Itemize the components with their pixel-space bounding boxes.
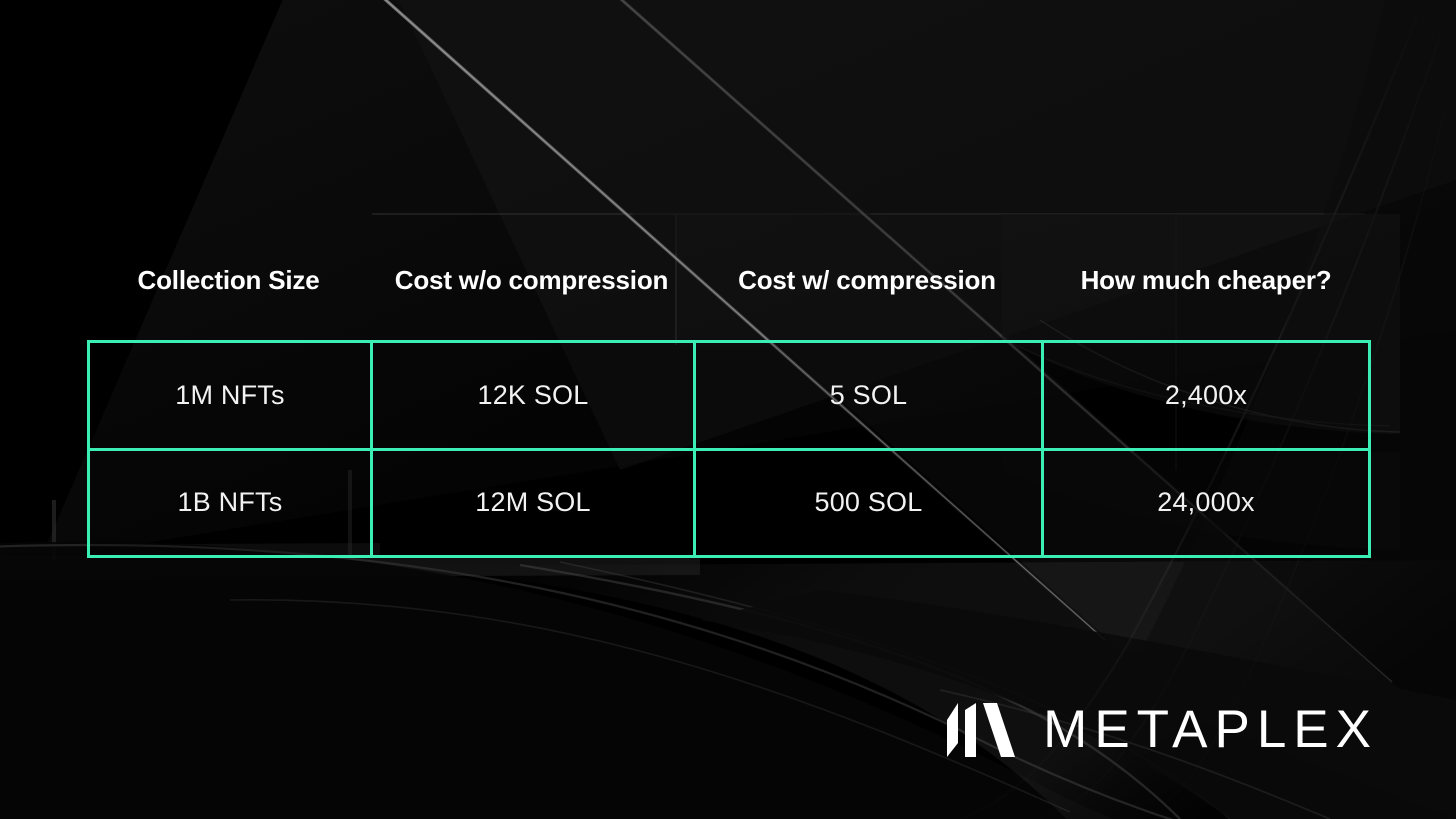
table-row: 1B NFTs 12M SOL 500 SOL 24,000x xyxy=(90,448,1368,556)
cell-how-much-cheaper: 2,400x xyxy=(1041,343,1368,448)
table-row: 1M NFTs 12K SOL 5 SOL 2,400x xyxy=(90,343,1368,448)
cell-how-much-cheaper: 24,000x xyxy=(1041,451,1368,556)
cell-cost-with-compression: 5 SOL xyxy=(693,343,1041,448)
cell-cost-without-compression: 12K SOL xyxy=(370,343,693,448)
column-header-cost-with-compression: Cost w/ compression xyxy=(693,222,1041,340)
cell-cost-with-compression: 500 SOL xyxy=(693,451,1041,556)
metaplex-m-mark-icon xyxy=(945,701,1017,757)
brand-logo: METAPLEX xyxy=(945,701,1378,757)
comparison-table: 1M NFTs 12K SOL 5 SOL 2,400x 1B NFTs 12M… xyxy=(87,340,1371,558)
column-header-collection-size: Collection Size xyxy=(87,222,370,340)
brand-wordmark: METAPLEX xyxy=(1043,703,1378,756)
table-header-row: Collection Size Cost w/o compression Cos… xyxy=(87,222,1371,340)
cell-cost-without-compression: 12M SOL xyxy=(370,451,693,556)
cell-collection-size: 1M NFTs xyxy=(90,343,370,448)
slide-content: Collection Size Cost w/o compression Cos… xyxy=(0,0,1456,819)
cell-collection-size: 1B NFTs xyxy=(90,451,370,556)
column-header-cost-without-compression: Cost w/o compression xyxy=(370,222,693,340)
column-header-how-much-cheaper: How much cheaper? xyxy=(1041,222,1371,340)
